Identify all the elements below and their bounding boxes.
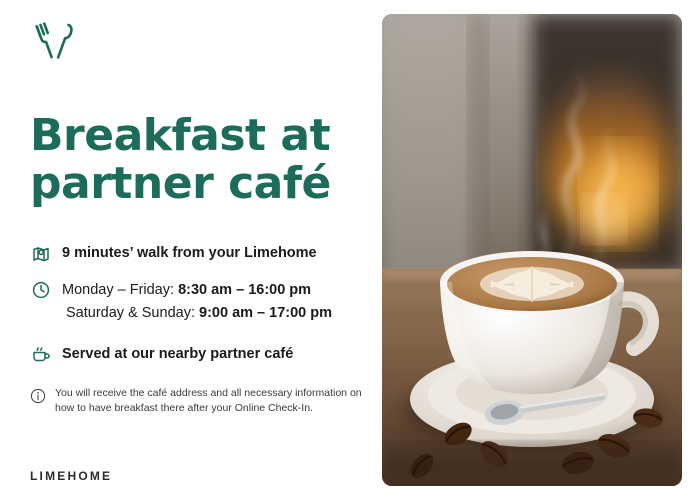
service-text: Served at our nearby partner café [62, 344, 293, 366]
hours-weekend-label: Saturday & Sunday: [66, 305, 195, 321]
disclaimer: You will receive the café address and al… [30, 386, 375, 416]
headline-line-2: partner café [30, 160, 375, 208]
disclaimer-line-2: how to have breakfast there after your O… [55, 402, 313, 414]
headline-line-1: Breakfast at [30, 112, 375, 160]
hours-values: Monday – Friday: 8:30 am – 16:00 pm Satu… [62, 279, 332, 324]
hours-weekday-label: Monday – Friday: [62, 282, 174, 298]
info-row-service: Served at our nearby partner café [30, 344, 375, 366]
map-pin-icon [30, 243, 52, 265]
info-row-distance: 9 minutes’ walk from your Limehome [30, 243, 375, 265]
crossed-fork-knife-icon [30, 18, 76, 64]
hours-weekday-value: 8:30 am – 16:00 pm [178, 282, 311, 298]
disclaimer-line-1: You will receive the café address and al… [55, 387, 362, 399]
page-title: Breakfast at partner café [30, 112, 375, 207]
hours-weekend-value: 9:00 am – 17:00 pm [199, 305, 332, 321]
brand-wordmark: LIMEHOME [30, 469, 112, 483]
breakfast-promo-card: Breakfast at partner café 9 minutes’ [0, 0, 700, 500]
coffee-cup-icon [30, 344, 52, 366]
content-column: Breakfast at partner café 9 minutes’ [30, 18, 375, 416]
info-row-hours: Monday – Friday: 8:30 am – 16:00 pm Satu… [30, 279, 375, 324]
latte-art-coffee-cup-photo [382, 14, 682, 486]
hours-weekend: Saturday & Sunday: 9:00 am – 17:00 pm [62, 302, 332, 324]
info-list: 9 minutes’ walk from your Limehome Monda… [30, 243, 375, 366]
disclaimer-text: You will receive the café address and al… [55, 386, 375, 416]
clock-icon [30, 279, 52, 301]
hours-weekday: Monday – Friday: 8:30 am – 16:00 pm [62, 279, 332, 301]
distance-text: 9 minutes’ walk from your Limehome [62, 243, 317, 265]
info-circle-icon [30, 388, 46, 404]
